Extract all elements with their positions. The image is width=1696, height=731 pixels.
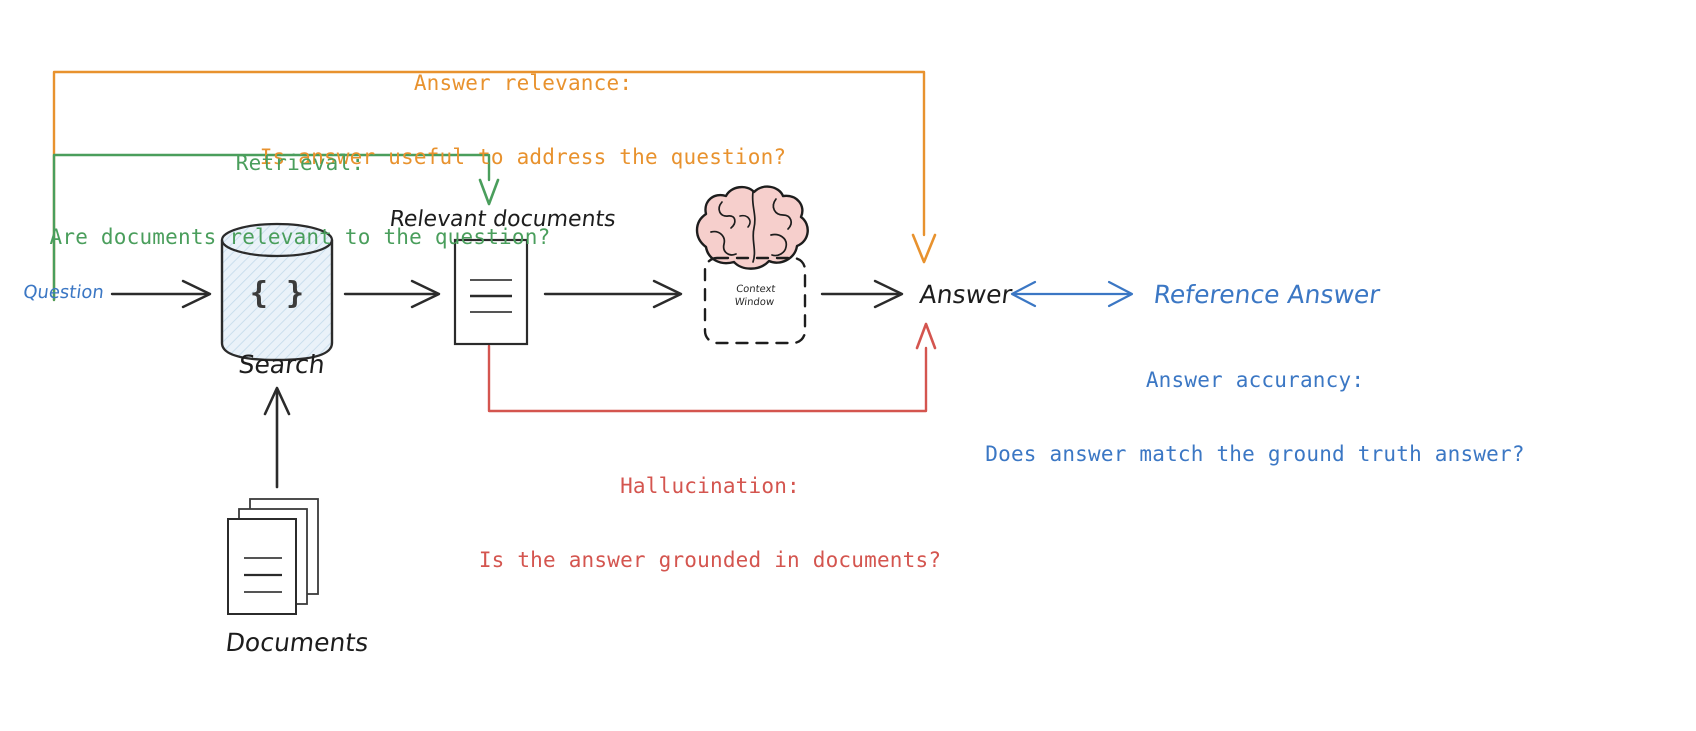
annotation-answer-relevance-title: Answer relevance: bbox=[243, 71, 803, 96]
annotation-hallucination-question: Is the answer grounded in documents? bbox=[430, 548, 990, 573]
node-label-context-window: Context Window bbox=[704, 284, 807, 309]
node-label-search: Search bbox=[237, 350, 327, 380]
node-label-question: Question bbox=[22, 282, 105, 303]
node-label-answer: Answer bbox=[918, 280, 1014, 310]
node-label-relevant-documents: Relevant documents bbox=[388, 207, 617, 233]
flow-arrow-search-to-documents bbox=[345, 281, 439, 307]
flow-arrow-llm-to-answer bbox=[822, 281, 902, 307]
annotation-hallucination: Hallucination: Is the answer grounded in… bbox=[430, 424, 990, 597]
brain-icon bbox=[697, 187, 808, 269]
node-label-documents: Documents bbox=[224, 628, 370, 658]
annotation-answer-accuracy: Answer accurancy: Does answer match the … bbox=[975, 318, 1535, 491]
annotation-retrieval: Retrieval: Are documents relevant to the… bbox=[20, 101, 580, 274]
flow-arrow-question-to-search bbox=[112, 281, 210, 307]
answer-accuracy-arrow bbox=[1012, 282, 1132, 306]
flow-arrow-documents-to-search bbox=[265, 388, 289, 487]
annotation-hallucination-title: Hallucination: bbox=[430, 474, 990, 499]
svg-text:{ }: { } bbox=[250, 276, 304, 311]
annotation-answer-accuracy-question: Does answer match the ground truth answe… bbox=[975, 442, 1535, 467]
flow-arrow-documents-to-llm bbox=[545, 281, 681, 307]
annotation-retrieval-title: Retrieval: bbox=[20, 151, 580, 176]
node-label-reference-answer: Reference Answer bbox=[1152, 280, 1382, 310]
hallucination-arrow bbox=[489, 324, 935, 411]
annotation-answer-accuracy-title: Answer accurancy: bbox=[975, 368, 1535, 393]
document-stack-icon bbox=[228, 499, 318, 614]
